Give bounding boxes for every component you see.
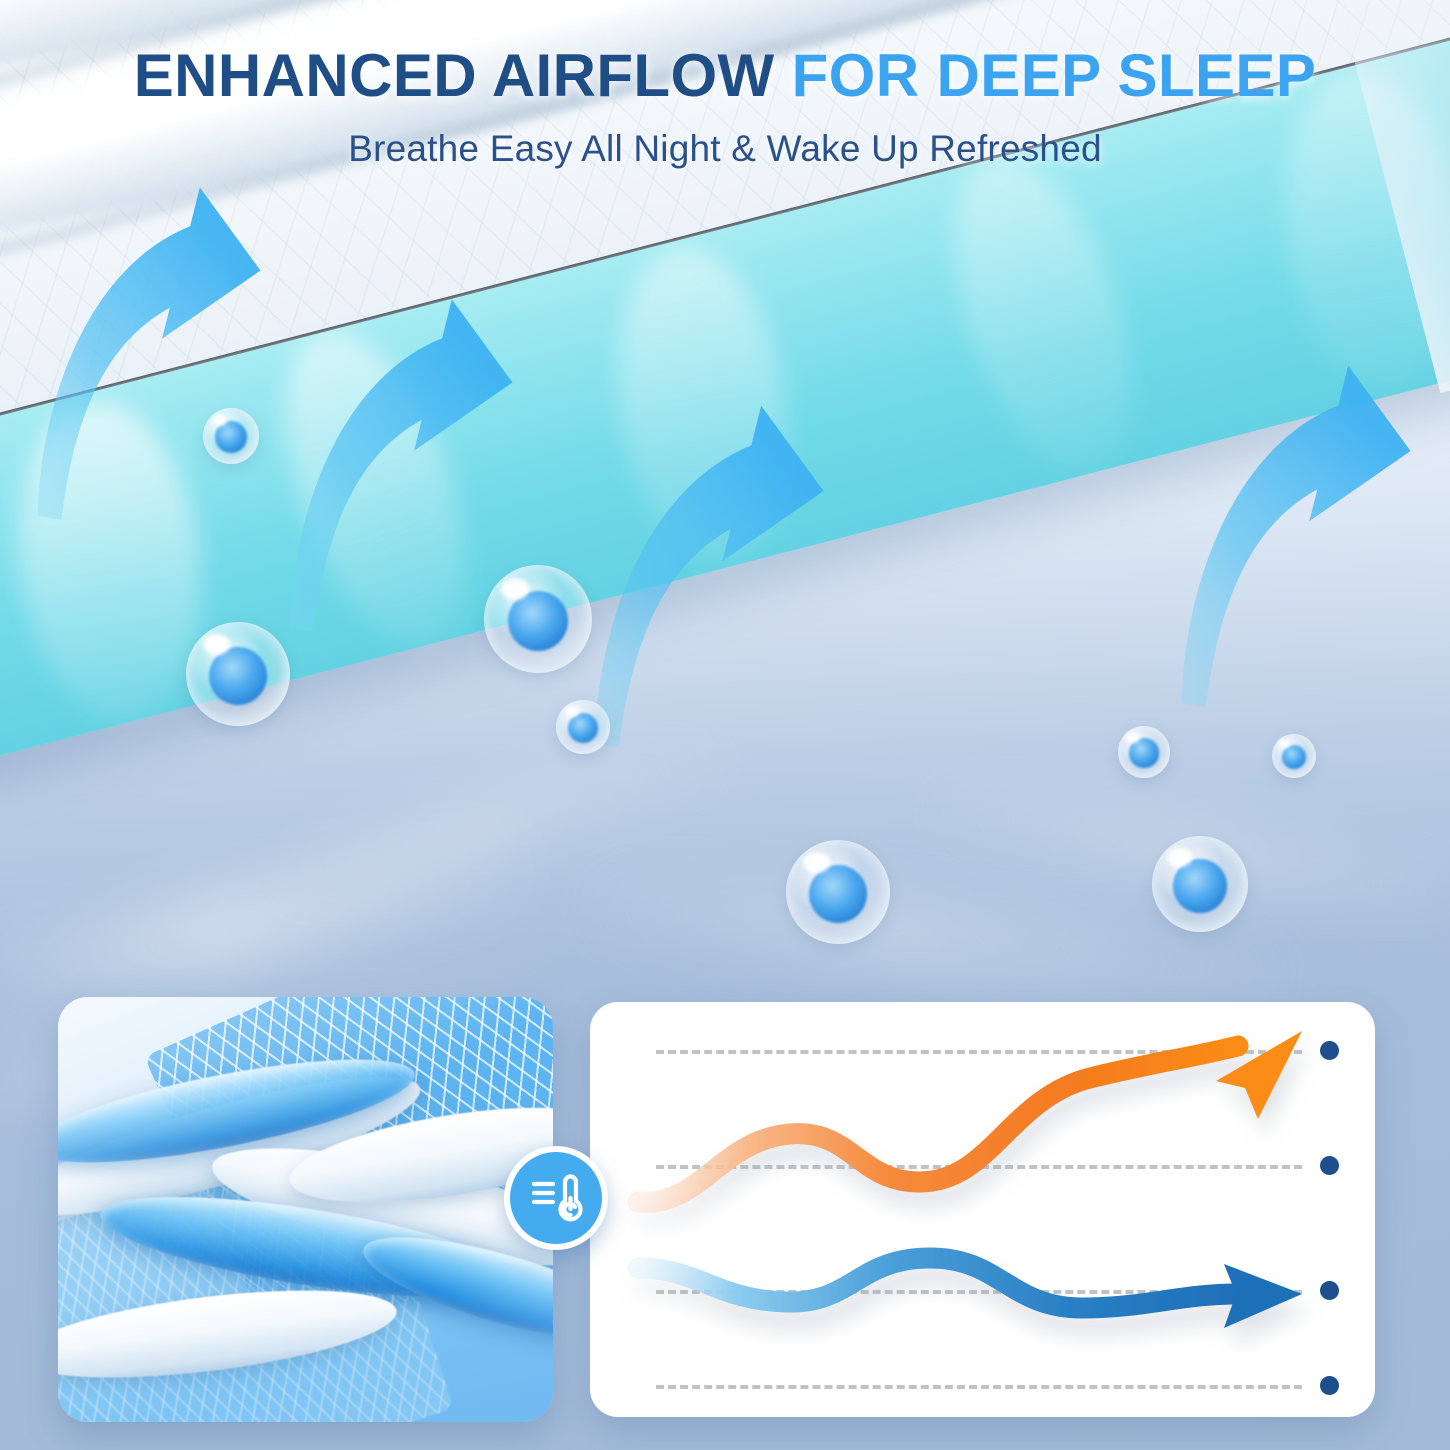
bubble-core [809, 865, 867, 923]
bubble-core [568, 713, 598, 743]
bubble-glint [501, 578, 529, 600]
page-title: ENHANCED AIRFLOW FOR DEEP SLEEP [0, 44, 1450, 108]
cooling-comparison-chart [590, 1002, 1375, 1417]
bubble-glint [1126, 732, 1140, 742]
bubble-glint [565, 706, 579, 717]
water-droplet-bubble-icon [484, 565, 592, 673]
water-droplet-bubble-icon [203, 408, 259, 464]
bubble-glint [803, 852, 830, 873]
bubble-glint [1167, 848, 1192, 867]
bubble-core [209, 647, 267, 705]
photo-sheen-overlay [58, 997, 553, 1422]
product-marketing-image: ENHANCED AIRFLOW FOR DEEP SLEEP Breathe … [0, 0, 1450, 1450]
thermometer-icon [525, 1167, 587, 1229]
headline-block: ENHANCED AIRFLOW FOR DEEP SLEEP Breathe … [0, 44, 1450, 170]
bubble-core [1129, 738, 1158, 767]
bubble-core [215, 421, 246, 452]
thermometer-badge [504, 1146, 608, 1250]
bubble-glint [212, 415, 227, 426]
water-droplet-bubble-icon [556, 700, 610, 754]
bubble-core [1173, 859, 1227, 913]
bubble-glint [203, 634, 230, 655]
headline-part-2: FOR DEEP SLEEP [792, 42, 1317, 109]
headline-part-1: ENHANCED AIRFLOW [134, 42, 775, 109]
cooling-fiber-photo-panel [58, 997, 553, 1422]
water-droplet-bubble-icon [786, 840, 890, 944]
water-droplet-bubble-icon [1118, 726, 1170, 778]
bubble-core [508, 591, 568, 651]
water-droplet-bubble-icon [186, 622, 290, 726]
ours-trend-line [590, 1002, 1375, 1417]
page-subtitle: Breathe Easy All Night & Wake Up Refresh… [0, 128, 1450, 170]
bubble-core [1282, 745, 1307, 770]
water-droplet-bubble-icon [1272, 734, 1316, 778]
water-droplet-bubble-icon [1152, 836, 1248, 932]
